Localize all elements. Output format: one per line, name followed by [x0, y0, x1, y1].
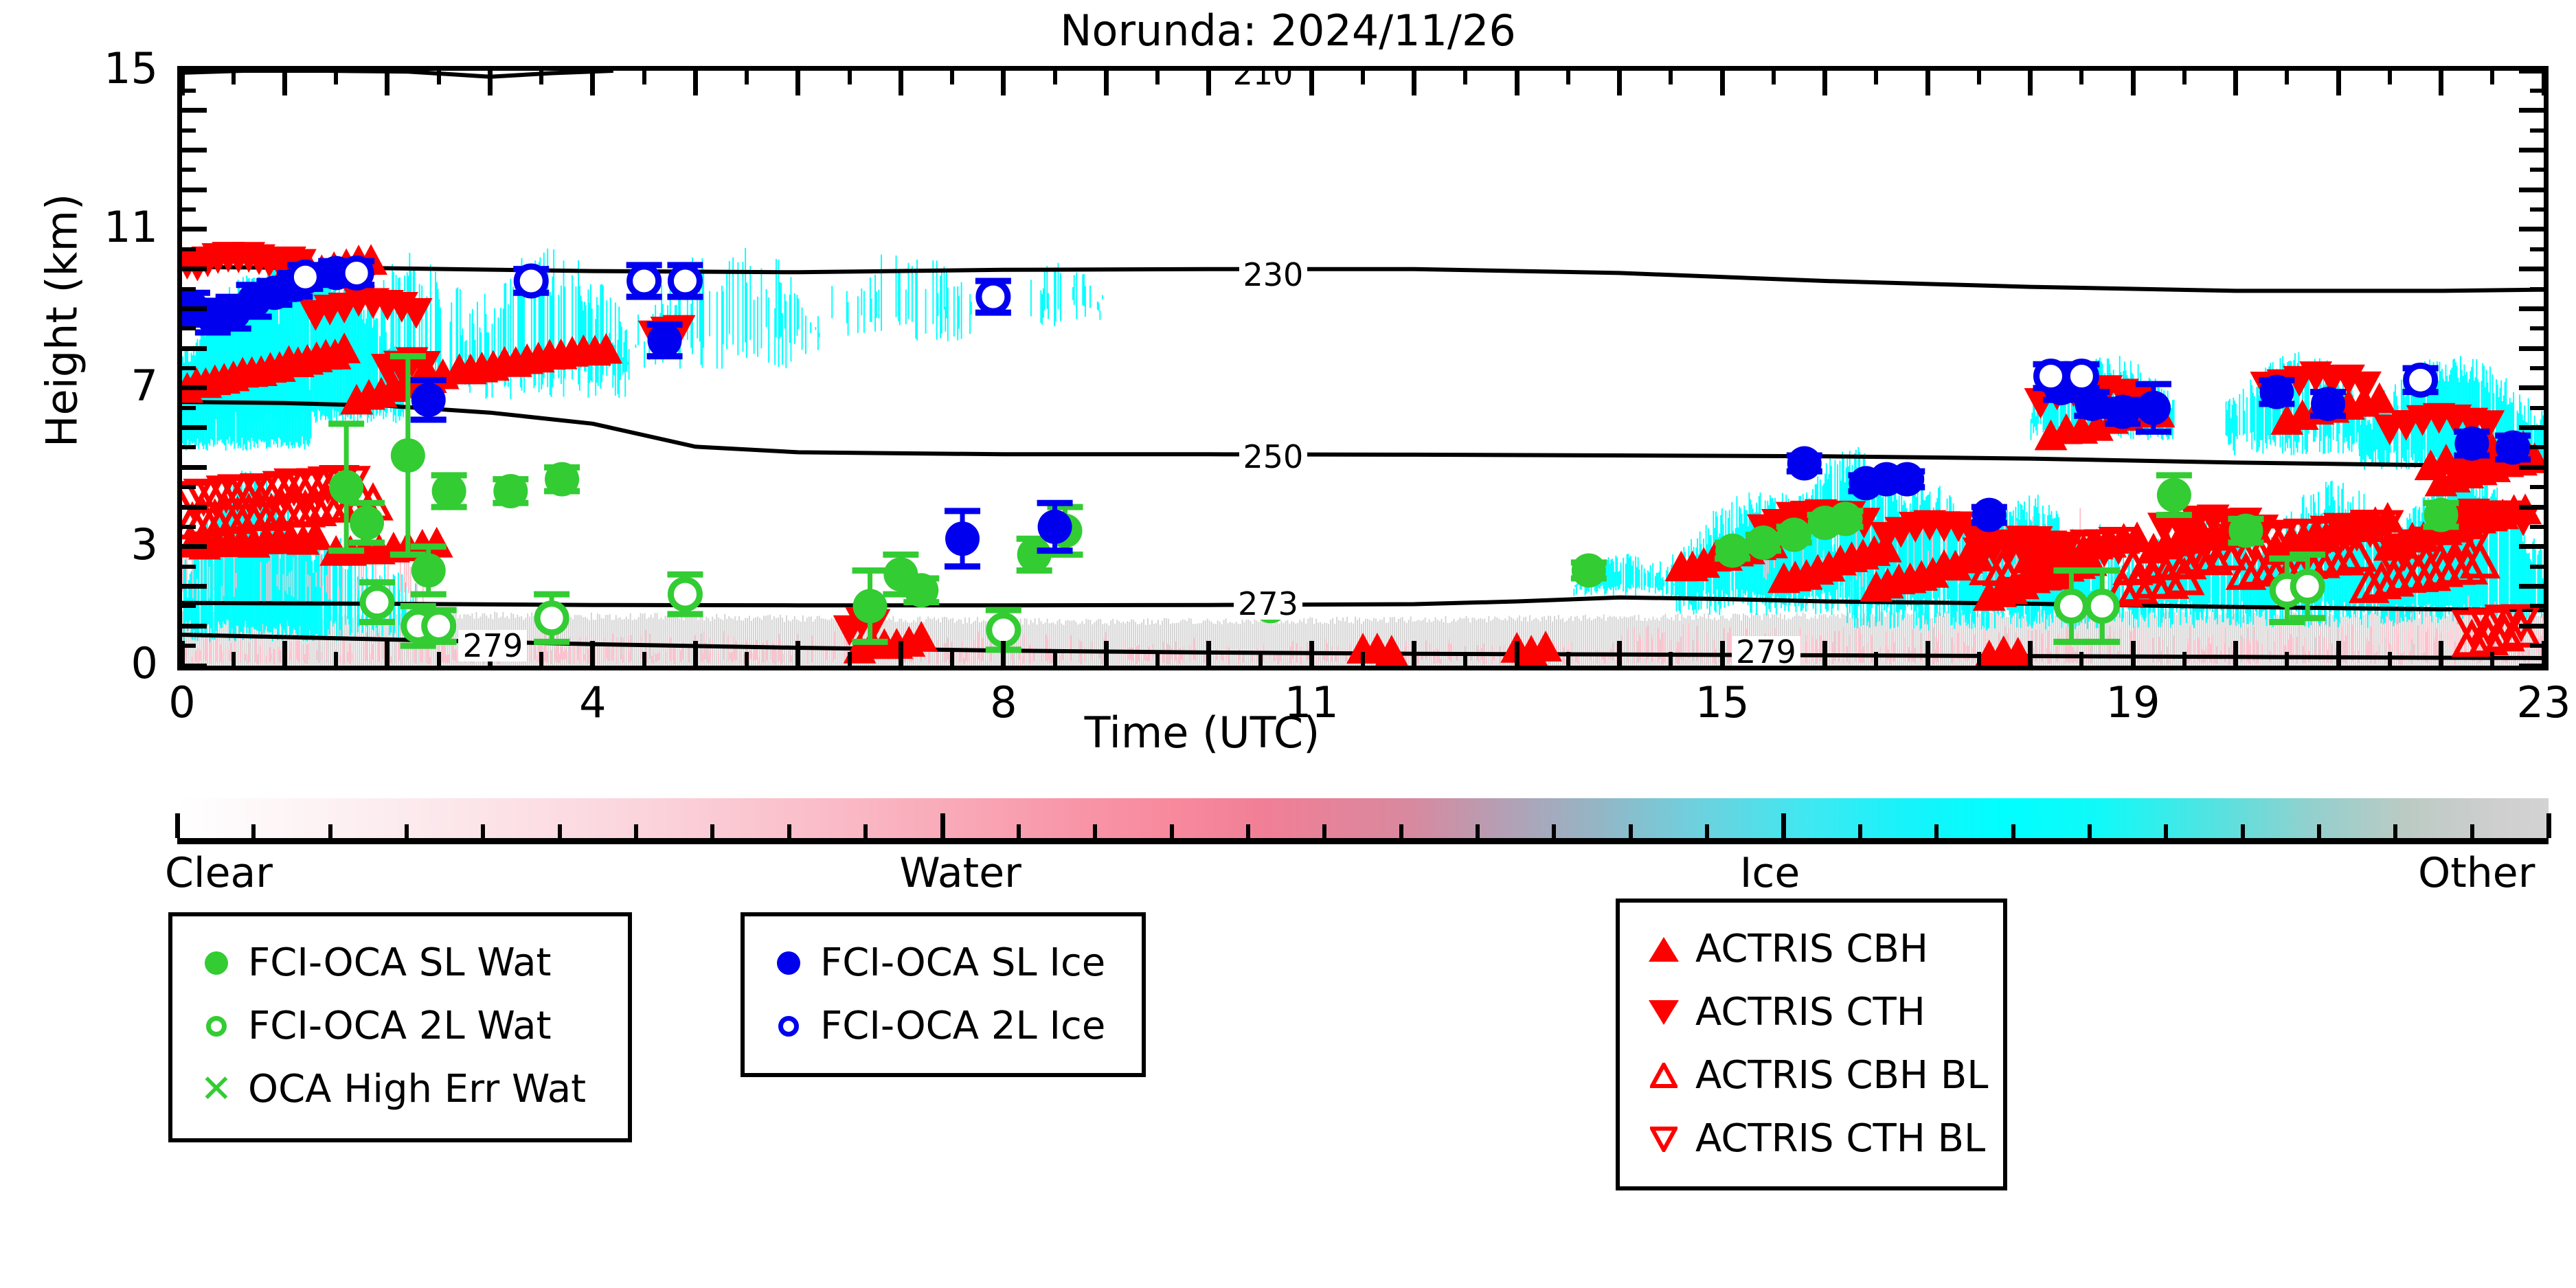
- y-tick: [182, 445, 196, 449]
- plot-area[interactable]: 210230250273279279: [177, 66, 2549, 670]
- y-tick: [182, 188, 207, 192]
- y-tick-right: [2519, 505, 2544, 510]
- x-tick: [2388, 652, 2392, 666]
- y-tick: [182, 544, 207, 549]
- y-tick: [182, 287, 196, 291]
- x-tick-top: [2079, 71, 2083, 84]
- colorbar-tick: [1170, 824, 1174, 838]
- colorbar-tick: [2088, 824, 2092, 838]
- y-tick: [182, 505, 207, 510]
- y-tick: [182, 565, 196, 569]
- legend-item-label: OCA High Err Wat: [248, 1070, 586, 1109]
- fci-oca-2l-ice-point: [2037, 362, 2066, 391]
- fci-oca-sl-wat-point: [2157, 478, 2191, 512]
- colorbar-label-clear: Clear: [165, 849, 273, 897]
- y-tick-label: 7: [7, 365, 158, 407]
- colorbar-tick: [2546, 813, 2551, 838]
- fci-oca-2l-ice-point: [670, 267, 699, 295]
- fci-oca-2l-wat-point: [670, 580, 699, 609]
- contour-label-279: 279: [458, 630, 527, 662]
- legend-item[interactable]: FCI-OCA 2L Wat: [185, 995, 628, 1058]
- x-tick-label: 23: [2475, 677, 2576, 727]
- x-tick: [899, 641, 903, 666]
- fci-oca-sl-ice-point: [2454, 427, 2489, 461]
- x-tick-label: 19: [2064, 677, 2202, 727]
- y-tick: [182, 346, 207, 351]
- y-tick-right: [2530, 128, 2544, 133]
- x-tick: [2285, 652, 2289, 666]
- fci-oca-sl-ice-point: [648, 324, 682, 358]
- colorbar-tick: [405, 824, 409, 838]
- x-tick-top: [795, 71, 800, 95]
- fci-oca-sl-wat-point: [1017, 537, 1052, 572]
- x-tick-top: [1412, 71, 1416, 95]
- fci-oca-sl-ice-point: [1972, 498, 2007, 532]
- legend-item-label: ACTRIS CTH BL: [1695, 1120, 1985, 1158]
- fci-oca-sl-ice-point: [2311, 387, 2345, 421]
- legend-item-label: FCI-OCA SL Ice: [820, 944, 1105, 982]
- y-tick: [182, 148, 207, 152]
- y-tick-right: [2519, 385, 2544, 390]
- colorbar-tick: [251, 824, 256, 838]
- x-tick: [1104, 641, 1109, 666]
- x-tick: [2336, 641, 2341, 666]
- x-tick: [2131, 641, 2136, 666]
- x-tick: [1874, 652, 1878, 666]
- fci-oca-sl-ice-point: [1038, 510, 1072, 544]
- x-tick-top: [539, 71, 543, 84]
- x-tick-top: [334, 71, 338, 84]
- colorbar-tick: [2241, 824, 2245, 838]
- x-tick-top: [2439, 71, 2443, 95]
- x-tick-top: [488, 71, 493, 95]
- x-tick-top: [1669, 71, 1673, 84]
- fci-oca-sl-wat-point: [1715, 534, 1750, 568]
- filled-circle-green-icon: [185, 951, 248, 975]
- x-tick: [1155, 652, 1160, 666]
- fci-oca-sl-ice-point: [2136, 391, 2171, 425]
- y-tick-right: [2530, 604, 2544, 608]
- colorbar-tick: [1322, 824, 1326, 838]
- y-tick: [182, 425, 207, 430]
- x-tick: [2542, 641, 2546, 666]
- fci-oca-2l-wat-point: [2293, 572, 2322, 601]
- x-tick-top: [1104, 71, 1109, 95]
- fci-oca-2l-ice-point: [2067, 362, 2096, 391]
- colorbar-tick: [1552, 824, 1556, 838]
- x-tick-top: [848, 71, 852, 84]
- fci-oca-2l-wat-point: [425, 611, 453, 640]
- open-circle-blue-icon: [757, 1016, 820, 1037]
- y-tick: [182, 227, 207, 231]
- x-tick-top: [1720, 71, 1725, 95]
- colorbar-tick: [1858, 824, 1862, 838]
- y-tick-right: [2519, 69, 2544, 74]
- x-tick-top: [1463, 71, 1467, 84]
- x-tick: [2490, 652, 2494, 666]
- colorbar-tick: [1399, 824, 1403, 838]
- y-tick-right: [2519, 544, 2544, 549]
- y-tick-right: [2519, 227, 2544, 231]
- x-tick: [795, 641, 800, 666]
- fci-oca-sl-wat-point: [2424, 498, 2459, 532]
- x-tick-label: 0: [113, 677, 251, 727]
- fci-oca-2l-ice-point: [2406, 365, 2435, 394]
- x-tick: [1566, 652, 1570, 666]
- fci-oca-sl-wat-point: [1829, 501, 1863, 536]
- open-triangle-down-red-icon: [1632, 1126, 1695, 1152]
- x-tick-top: [1977, 71, 1981, 84]
- colorbar-tick: [2317, 824, 2321, 838]
- x-tick-top: [1617, 71, 1622, 95]
- y-tick-right: [2519, 465, 2544, 470]
- x-tick: [180, 641, 185, 666]
- open-triangle-up-red-icon: [1632, 1063, 1695, 1089]
- x-tick-top: [950, 71, 954, 84]
- fci-oca-sl-wat-point: [904, 573, 938, 607]
- x-tick: [950, 652, 954, 666]
- contour-label-230: 230: [1239, 259, 1308, 291]
- filled-circle-blue-icon: [757, 951, 820, 975]
- fci-oca-2l-wat-point: [2088, 591, 2116, 620]
- x-tick: [282, 641, 287, 666]
- open-circle-green-icon: [185, 1016, 248, 1037]
- x-tick: [1720, 641, 1725, 666]
- legend-item[interactable]: FCI-OCA SL Wat: [185, 931, 628, 995]
- x-tick-top: [2336, 71, 2341, 95]
- x-tick-top: [899, 71, 903, 95]
- fci-oca-sl-wat-point: [329, 470, 363, 504]
- y-tick-right: [2519, 306, 2544, 311]
- legend-item[interactable]: ACTRIS CTH: [1632, 981, 2003, 1044]
- x-tick-top: [642, 71, 646, 84]
- contour-line-250: [182, 402, 2544, 466]
- legend-item-label: ACTRIS CBH: [1695, 930, 1928, 969]
- colorbar-tick: [2470, 824, 2474, 838]
- y-tick-right: [2530, 207, 2544, 212]
- y-tick: [182, 267, 207, 271]
- y-tick-right: [2530, 287, 2544, 291]
- x-tick: [1977, 652, 1981, 666]
- colorbar-tick: [2393, 824, 2397, 838]
- x-tick-top: [1155, 71, 1160, 84]
- colorbar-tick: [1781, 813, 1786, 838]
- y-tick: [182, 247, 196, 251]
- x-tick: [693, 641, 698, 666]
- contour-label-273: 273: [1234, 588, 1302, 620]
- x-tick-top: [282, 71, 287, 95]
- x-tick: [1258, 652, 1263, 666]
- colorbar-tick: [2011, 824, 2015, 838]
- fci-oca-2l-ice-point: [291, 262, 319, 291]
- x-tick-top: [2388, 71, 2392, 84]
- legend-item-label: FCI-OCA 2L Ice: [820, 1007, 1105, 1046]
- x-tick-top: [180, 71, 185, 95]
- y-tick: [182, 624, 207, 629]
- x-tick: [1617, 641, 1622, 666]
- y-tick-right: [2530, 366, 2544, 370]
- x-tick-top: [1309, 71, 1314, 95]
- filled-triangle-down-red-icon: [1632, 1000, 1695, 1025]
- x-tick-top: [2233, 71, 2238, 95]
- cross-green-icon: ✕: [185, 1070, 248, 1109]
- fci-oca-sl-wat-point: [432, 474, 466, 508]
- colorbar-label-other: Other: [2418, 849, 2535, 897]
- x-tick: [1463, 652, 1467, 666]
- x-tick-top: [2285, 71, 2289, 84]
- y-tick: [182, 326, 196, 330]
- fci-oca-sl-wat-point: [411, 553, 446, 587]
- contour-label-250: 250: [1239, 441, 1308, 473]
- x-axis-label: Time (UTC): [790, 708, 1614, 758]
- fci-oca-2l-wat-point: [2057, 591, 2086, 620]
- fci-oca-sl-ice-point: [1890, 462, 1924, 497]
- colorbar-tick: [710, 824, 714, 838]
- colorbar-tick: [1476, 824, 1480, 838]
- colorbar-tick: [1629, 824, 1633, 838]
- fci-oca-sl-wat-point: [2229, 514, 2263, 548]
- contour-label-210: 210: [1229, 66, 1298, 89]
- y-tick-label: 11: [7, 206, 158, 249]
- colorbar-tick: [787, 824, 791, 838]
- fci-oca-sl-wat-point: [853, 589, 888, 623]
- fci-oca-sl-ice-point: [2105, 395, 2140, 429]
- x-tick: [539, 652, 543, 666]
- x-tick-top: [1925, 71, 1930, 95]
- fci-oca-sl-wat-point: [545, 462, 579, 497]
- x-tick-top: [1566, 71, 1570, 84]
- y-tick: [182, 465, 207, 470]
- x-tick-top: [1772, 71, 1776, 84]
- x-tick: [1206, 641, 1211, 666]
- filled-triangle-up-red-icon: [1632, 937, 1695, 962]
- fci-oca-2l-ice-point: [517, 267, 545, 295]
- fci-oca-2l-wat-point: [989, 615, 1018, 644]
- y-tick: [182, 306, 207, 311]
- colorbar-tick: [940, 813, 945, 838]
- contour-label-279: 279: [1732, 636, 1800, 668]
- colorbar-gradient: [177, 798, 2549, 838]
- fci-oca-2l-ice-point: [342, 258, 371, 287]
- fci-oca-sl-wat-point: [1746, 526, 1781, 560]
- y-tick-right: [2530, 485, 2544, 489]
- colorbar-tick: [634, 824, 638, 838]
- x-tick: [2079, 652, 2083, 666]
- x-tick-top: [2490, 71, 2494, 84]
- y-tick-right: [2519, 624, 2544, 629]
- colorbar-tick: [481, 824, 485, 838]
- x-tick: [2182, 652, 2187, 666]
- colorbar-tick: [863, 824, 868, 838]
- x-tick-top: [1874, 71, 1878, 84]
- y-tick: [182, 584, 207, 589]
- x-tick-top: [590, 71, 595, 95]
- x-tick: [1309, 641, 1314, 666]
- fci-oca-sl-wat-point: [1572, 553, 1606, 587]
- legend-item-label: FCI-OCA 2L Wat: [248, 1007, 552, 1046]
- legend-item-label: ACTRIS CBH BL: [1695, 1057, 1988, 1095]
- y-tick-label: 15: [7, 47, 158, 90]
- y-tick-right: [2530, 525, 2544, 529]
- x-tick-top: [2131, 71, 2136, 95]
- x-tick-top: [385, 71, 389, 95]
- x-tick-top: [1206, 71, 1211, 95]
- colorbar-tick: [328, 824, 332, 838]
- x-tick: [1822, 641, 1827, 666]
- x-tick-top: [2542, 71, 2546, 95]
- legend-item[interactable]: ✕OCA High Err Wat: [185, 1058, 628, 1121]
- legend-item-label: FCI-OCA SL Wat: [248, 944, 552, 982]
- fci-oca-sl-wat-point: [391, 438, 425, 473]
- x-tick: [231, 652, 236, 666]
- x-tick: [1361, 652, 1365, 666]
- x-tick: [1412, 641, 1416, 666]
- legend-item[interactable]: FCI-OCA 2L Ice: [757, 995, 1142, 1058]
- x-tick-label: 4: [524, 677, 662, 727]
- colorbar-axis: [177, 838, 2549, 844]
- x-tick-top: [745, 71, 749, 84]
- x-tick: [437, 652, 441, 666]
- colorbar-tick: [1246, 824, 1250, 838]
- y-tick-right: [2519, 108, 2544, 113]
- colorbar-tick: [558, 824, 562, 838]
- x-tick: [745, 652, 749, 666]
- y-tick: [182, 168, 196, 172]
- y-tick-right: [2519, 664, 2544, 668]
- fci-oca-sl-wat-point: [493, 474, 528, 508]
- x-tick: [1925, 641, 1930, 666]
- plot-svg: [182, 71, 2544, 666]
- fci-oca-2l-ice-point: [630, 267, 659, 295]
- x-tick: [2439, 641, 2443, 666]
- colorbar-tick: [2164, 824, 2168, 838]
- x-tick: [642, 652, 646, 666]
- y-tick-right: [2519, 188, 2544, 192]
- y-tick-right: [2530, 445, 2544, 449]
- fci-oca-2l-ice-point: [979, 282, 1008, 311]
- fci-oca-2l-wat-point: [363, 588, 392, 617]
- fci-oca-2l-wat-point: [537, 604, 566, 633]
- x-tick: [1053, 652, 1057, 666]
- x-tick: [1669, 652, 1673, 666]
- x-tick-top: [1822, 71, 1827, 95]
- y-tick-right: [2530, 406, 2544, 410]
- legend-item[interactable]: ACTRIS CBH: [1632, 918, 2003, 981]
- y-tick: [182, 604, 196, 608]
- x-tick-top: [231, 71, 236, 84]
- colorbar-tick: [1934, 824, 1939, 838]
- y-tick: [182, 207, 196, 212]
- fci-oca-sl-ice-point: [1787, 447, 1822, 481]
- y-axis-label: Height (km): [37, 80, 87, 561]
- fci-oca-sl-ice-point: [411, 383, 446, 417]
- x-tick: [2028, 641, 2033, 666]
- x-tick: [385, 641, 389, 666]
- x-tick-top: [2182, 71, 2187, 84]
- y-tick-right: [2530, 247, 2544, 251]
- x-tick-top: [1053, 71, 1057, 84]
- y-tick-right: [2519, 346, 2544, 351]
- x-tick-top: [2028, 71, 2033, 95]
- legend-item[interactable]: ACTRIS CBH BL: [1632, 1044, 2003, 1107]
- y-tick: [182, 366, 196, 370]
- x-tick-top: [1001, 71, 1006, 95]
- y-tick-right: [2519, 584, 2544, 589]
- fci-oca-sl-ice-point: [945, 521, 980, 556]
- y-tick-right: [2519, 267, 2544, 271]
- water-legend: FCI-OCA SL WatFCI-OCA 2L Wat✕OCA High Er…: [168, 912, 632, 1142]
- legend-item-label: ACTRIS CTH: [1695, 993, 1925, 1032]
- colorbar-tick: [1705, 824, 1709, 838]
- y-tick: [182, 485, 196, 489]
- colorbar-tick: [1093, 824, 1097, 838]
- legend-item[interactable]: FCI-OCA SL Ice: [757, 931, 1142, 995]
- ice-legend: FCI-OCA SL IceFCI-OCA 2L Ice: [741, 912, 1146, 1077]
- y-tick: [182, 108, 207, 113]
- colorbar-label-ice: Ice: [1740, 849, 1800, 897]
- colorbar-tick: [175, 813, 180, 838]
- y-tick-right: [2530, 326, 2544, 330]
- y-tick: [182, 525, 196, 529]
- x-tick-top: [1515, 71, 1519, 95]
- y-tick-right: [2519, 425, 2544, 430]
- fci-oca-sl-ice-point: [2259, 375, 2294, 409]
- x-tick: [334, 652, 338, 666]
- fci-oca-sl-ice-point: [2496, 430, 2530, 464]
- x-tick-top: [1361, 71, 1365, 84]
- y-tick: [182, 664, 207, 668]
- contour-line-210: [182, 71, 613, 77]
- x-tick: [1001, 641, 1006, 666]
- y-tick: [182, 128, 196, 133]
- x-tick-top: [437, 71, 441, 84]
- x-tick: [1515, 641, 1519, 666]
- colorbar-label-water: Water: [899, 849, 1021, 897]
- x-tick-top: [693, 71, 698, 95]
- plot-canvas: [182, 71, 2544, 666]
- x-tick-label: 15: [1653, 677, 1791, 727]
- legend-item[interactable]: ACTRIS CTH BL: [1632, 1107, 2003, 1171]
- actris-legend: ACTRIS CBHACTRIS CTHACTRIS CBH BLACTRIS …: [1616, 899, 2007, 1190]
- y-tick: [182, 69, 207, 74]
- x-tick: [848, 652, 852, 666]
- y-tick-right: [2530, 565, 2544, 569]
- x-tick: [2233, 641, 2238, 666]
- y-tick-label: 3: [7, 523, 158, 566]
- y-tick-right: [2530, 168, 2544, 172]
- y-tick: [182, 385, 207, 390]
- fci-oca-sl-wat-point: [350, 506, 384, 540]
- page-title: Norunda: 2024/11/26: [0, 5, 2576, 56]
- y-tick-right: [2519, 148, 2544, 152]
- y-tick: [182, 406, 196, 410]
- colorbar-tick: [1017, 824, 1021, 838]
- fci-oca-sl-wat-point: [1777, 517, 1811, 552]
- x-tick: [590, 641, 595, 666]
